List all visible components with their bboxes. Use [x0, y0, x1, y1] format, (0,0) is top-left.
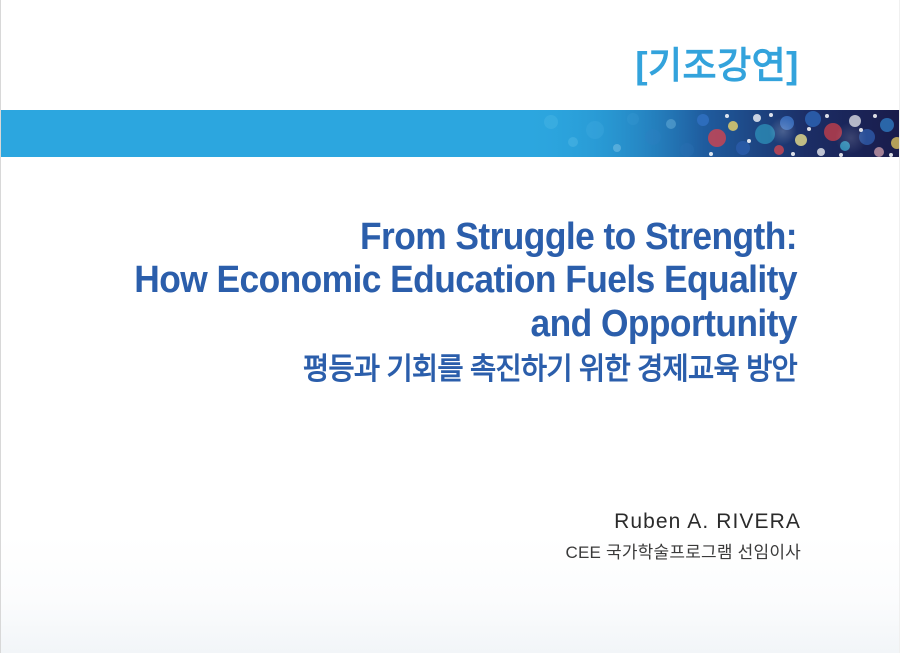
title-line-1: From Struggle to Strength:	[113, 216, 797, 259]
session-kicker: [기조강연]	[635, 47, 799, 84]
title-line-3: and Opportunity	[113, 303, 797, 346]
decorative-banner	[1, 110, 900, 157]
subtitle-korean: 평등과 기회를 촉진하기 위한 경제교육 방안	[98, 352, 797, 388]
confetti-graphic	[521, 110, 900, 157]
title-block: From Struggle to Strength: How Economic …	[61, 216, 797, 388]
presenter-affiliation: CEE 국가학술프로그램 선임이사	[566, 542, 801, 564]
presenter-name: Ruben A. RIVERA	[566, 509, 801, 535]
title-line-2: How Economic Education Fuels Equality	[113, 259, 797, 302]
title-slide: [기조강연]	[0, 0, 900, 653]
presenter-block: Ruben A. RIVERA CEE 국가학술프로그램 선임이사	[566, 509, 801, 564]
